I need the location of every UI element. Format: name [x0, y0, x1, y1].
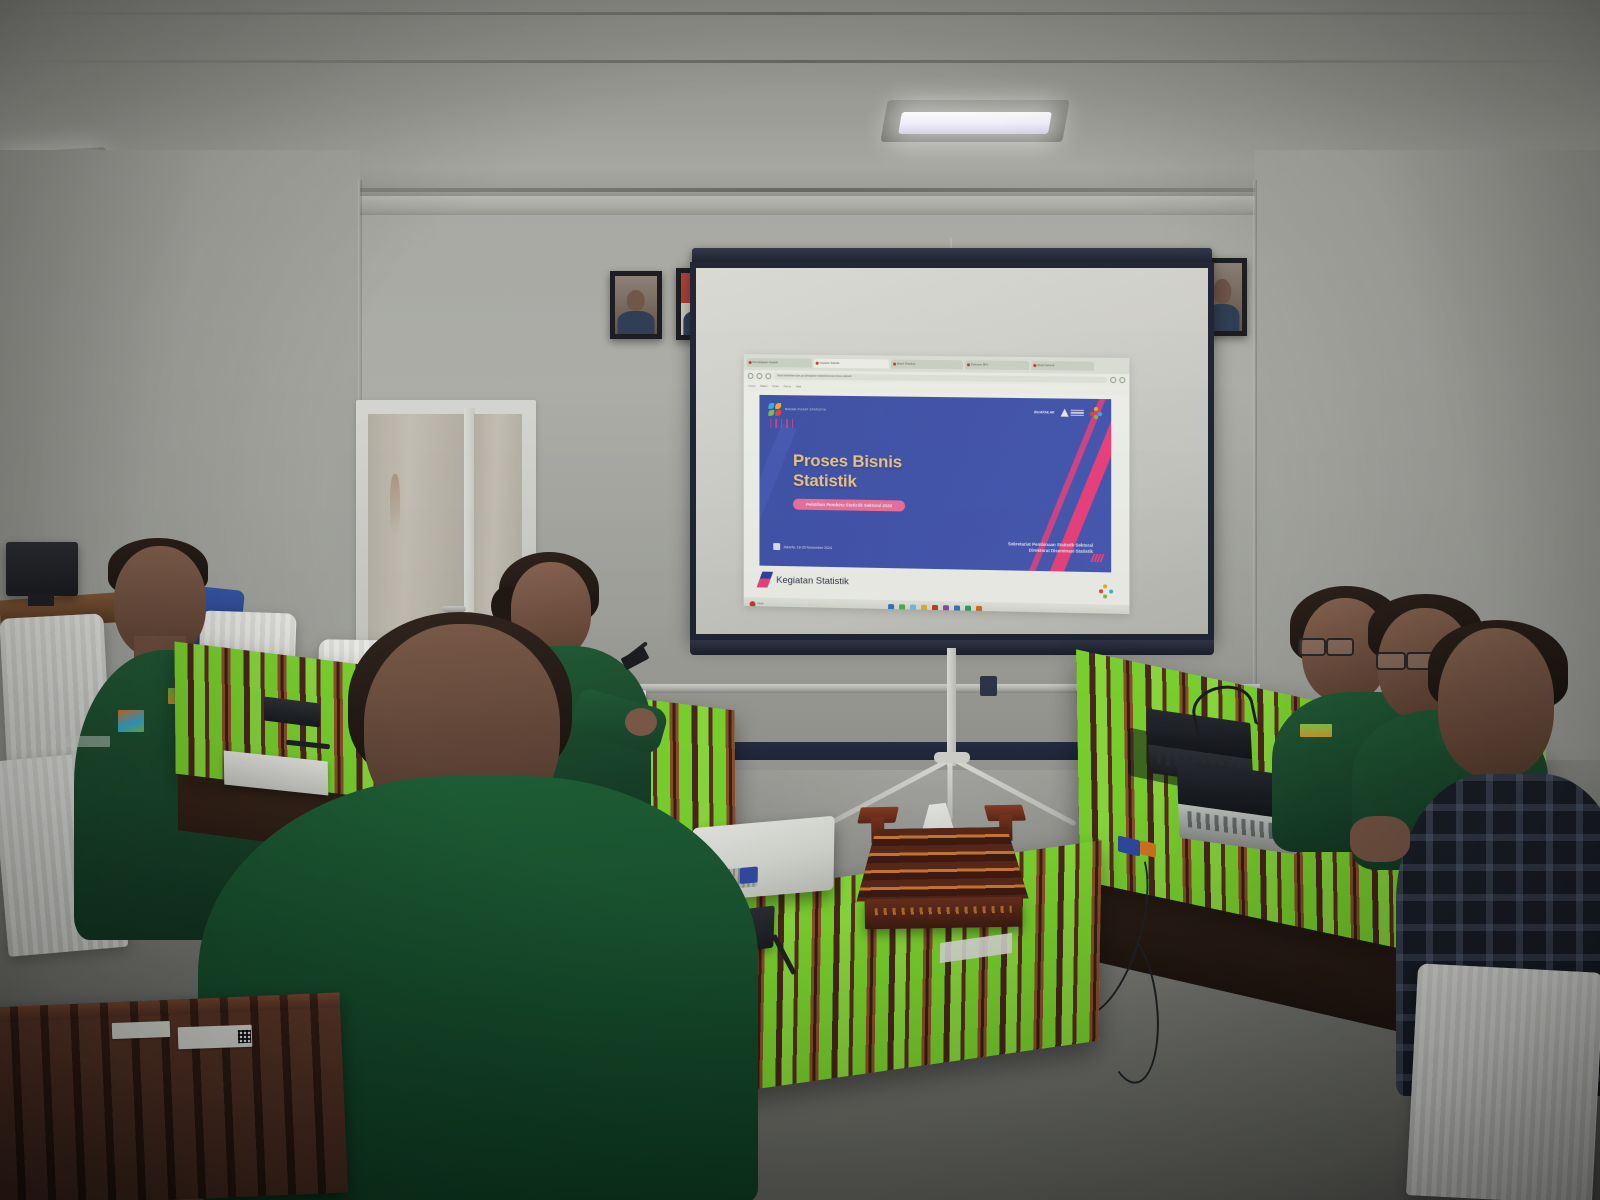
slide-org-line2: Direktorat Diseminasi Statistik — [1008, 548, 1093, 556]
chair-wooden-foreground[interactable] — [0, 992, 348, 1200]
glasses-icon — [1326, 638, 1354, 656]
browser-tab-title: Modul Sektoral — [1037, 364, 1054, 367]
slide-title-line2: Statistik — [793, 471, 902, 492]
presentation-slide: BADAN PUSAT STATISTIK BerAKHLAK — [759, 395, 1111, 573]
door-stain — [390, 474, 400, 536]
bps-logo-text: BADAN PUSAT STATISTIK — [785, 407, 826, 411]
ceria-logo-icon — [1099, 584, 1113, 598]
ceria-logo-icon — [1090, 407, 1102, 419]
browser-tab-title: Dokumen BPS — [971, 363, 988, 366]
browser-tab-title: Pembelajaran Statistik — [753, 361, 778, 364]
slide-organization: Sekretariat Pembinaan Statistik Sektoral… — [1008, 541, 1093, 556]
chair-slats — [0, 992, 348, 1200]
traditional-house-model — [849, 804, 1036, 933]
taskbar-app-icon[interactable] — [943, 605, 949, 611]
pinwheel-icon — [768, 402, 781, 415]
asset-label — [112, 1021, 171, 1039]
start-button[interactable]: Mulai — [750, 601, 764, 607]
bookmark-item[interactable]: Kelas — [772, 385, 778, 388]
browser-window[interactable]: Pembelajaran Statistik Kegiatan Statisti… — [744, 354, 1130, 614]
house-base — [865, 897, 1022, 930]
projection-screen: Pembelajaran Statistik Kegiatan Statisti… — [690, 262, 1214, 640]
slide-header: BADAN PUSAT STATISTIK BerAKHLAK — [759, 395, 1111, 427]
asn-mark-icon — [1061, 409, 1069, 417]
browser-tab[interactable]: Dokumen BPS — [965, 360, 1029, 370]
power-outlet-icon — [980, 676, 997, 696]
screen-surface: Pembelajaran Statistik Kegiatan Statisti… — [696, 268, 1208, 634]
chair-white[interactable] — [1406, 963, 1600, 1200]
tripod-pole — [947, 648, 956, 766]
taskbar-app-icon[interactable] — [921, 604, 927, 610]
taskbar-app-icon[interactable] — [910, 604, 916, 610]
tab-favicon-icon — [893, 362, 896, 365]
taskbar-app-icon[interactable] — [899, 604, 905, 610]
bookmark-item[interactable]: Materi — [760, 384, 767, 387]
calendar-icon — [773, 543, 780, 550]
slide-header-logos: BerAKHLAK — [1034, 406, 1102, 419]
heading-accent-icon — [757, 572, 774, 588]
bookmark-item[interactable]: Home — [749, 384, 756, 387]
ceiling-seam — [0, 12, 1600, 15]
browser-tab[interactable]: Modul Sektoral — [1031, 361, 1094, 371]
browser-tab[interactable]: Materi Pelatihan — [891, 359, 963, 369]
slide-date-text: Jakarta, 18-25 November 2024 — [783, 545, 832, 550]
hand — [1350, 816, 1410, 862]
uniform-badge — [1300, 724, 1332, 737]
glasses-icon — [1298, 638, 1326, 656]
taskbar-app-icon[interactable] — [888, 604, 894, 610]
asn-logo — [1061, 409, 1084, 417]
bps-logo: BADAN PUSAT STATISTIK — [768, 402, 826, 416]
profile-icon[interactable] — [1119, 377, 1125, 383]
uniform-name-tag — [66, 736, 110, 747]
slide-tick-marks — [770, 419, 793, 428]
start-label: Mulai — [757, 602, 763, 605]
house-base-decor — [875, 906, 1012, 915]
ceiling-light-icon — [898, 112, 1052, 134]
slide-title-line1: Proses Bisnis — [793, 451, 902, 472]
berakhlak-logo-text: BerAKHLAK — [1034, 410, 1054, 414]
os-taskbar[interactable]: Mulai — [744, 597, 1130, 614]
start-logo-icon — [750, 601, 756, 607]
head — [1438, 628, 1554, 778]
tab-favicon-icon — [816, 361, 819, 364]
tab-favicon-icon — [1033, 364, 1036, 367]
slide-subtitle-pill: Pelatihan Pembina Statistik Sektoral 202… — [793, 499, 905, 512]
browser-viewport: BADAN PUSAT STATISTIK BerAKHLAK — [744, 391, 1130, 614]
page-heading-text: Kegiatan Statistik — [776, 574, 849, 586]
browser-tab-active[interactable]: Kegiatan Statistik — [814, 358, 889, 368]
slide-title: Proses Bisnis Statistik — [793, 451, 902, 492]
reload-icon[interactable] — [765, 373, 771, 379]
tab-favicon-icon — [967, 363, 970, 366]
slide-stripe-accent — [1092, 554, 1103, 562]
qr-code-icon — [238, 1030, 251, 1043]
official-portrait-left — [610, 271, 662, 339]
star-icon[interactable] — [1110, 376, 1116, 382]
browser-tab-title: Materi Pelatihan — [897, 362, 916, 365]
taskbar-app-icon[interactable] — [965, 605, 971, 611]
bookmark-item[interactable]: Forum — [784, 385, 791, 388]
ceiling-seam — [0, 60, 1600, 63]
browser-tab-title: Kegiatan Statistik — [820, 361, 840, 364]
taskbar-app-icon[interactable] — [976, 605, 982, 611]
page-heading: Kegiatan Statistik — [759, 572, 848, 590]
bookmark-item[interactable]: Nilai — [796, 385, 801, 388]
taskbar-app-icon[interactable] — [932, 604, 938, 610]
forward-arrow-icon[interactable] — [757, 373, 763, 379]
slide-date-block: Jakarta, 18-25 November 2024 — [773, 543, 832, 551]
tab-favicon-icon — [749, 361, 752, 364]
tripod-hub — [934, 752, 970, 763]
browser-tab[interactable]: Pembelajaran Statistik — [747, 358, 812, 368]
taskbar-app-icon[interactable] — [954, 605, 960, 611]
meeting-room-scene: Pembelajaran Statistik Kegiatan Statisti… — [0, 0, 1600, 1200]
back-arrow-icon[interactable] — [748, 372, 754, 378]
uniform-emblem — [118, 710, 144, 732]
house-roof — [855, 827, 1028, 902]
